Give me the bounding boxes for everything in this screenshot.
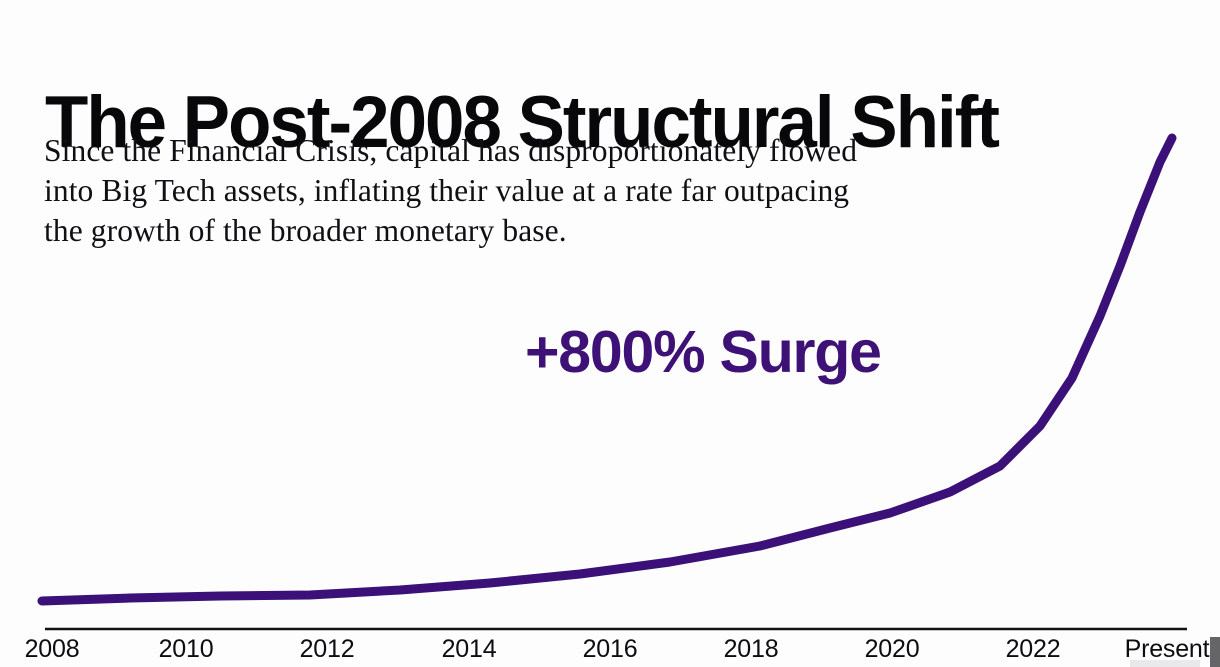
x-tick-label-2008: 2008 — [25, 634, 80, 664]
scrollbar-thumb[interactable] — [1210, 637, 1220, 667]
x-tick-label-2014: 2014 — [442, 634, 497, 664]
callout-surge-label: +800% Surge — [525, 316, 881, 388]
x-tick-label-2018: 2018 — [724, 634, 779, 664]
x-tick-label-2016: 2016 — [583, 634, 638, 664]
subtitle-line-3: the growth of the broader monetary base. — [44, 211, 1004, 251]
x-tick-label-2010: 2010 — [159, 634, 214, 664]
x-tick-label-2012: 2012 — [300, 634, 355, 664]
x-tick-label-2020: 2020 — [865, 634, 920, 664]
x-axis-tick-labels: 20082010201220142016201820202022Present — [0, 634, 1220, 667]
subtitle-line-2: into Big Tech assets, inflating their va… — [44, 171, 1004, 211]
subtitle-paragraph: Since the Financial Crisis, capital has … — [44, 131, 1004, 251]
slide-canvas: The Post-2008 Structural Shift Since the… — [0, 0, 1220, 667]
subtitle-line-1: Since the Financial Crisis, capital has … — [44, 131, 1004, 171]
clipped-caption-strip — [1130, 660, 1200, 667]
x-tick-label-2022: 2022 — [1006, 634, 1061, 664]
